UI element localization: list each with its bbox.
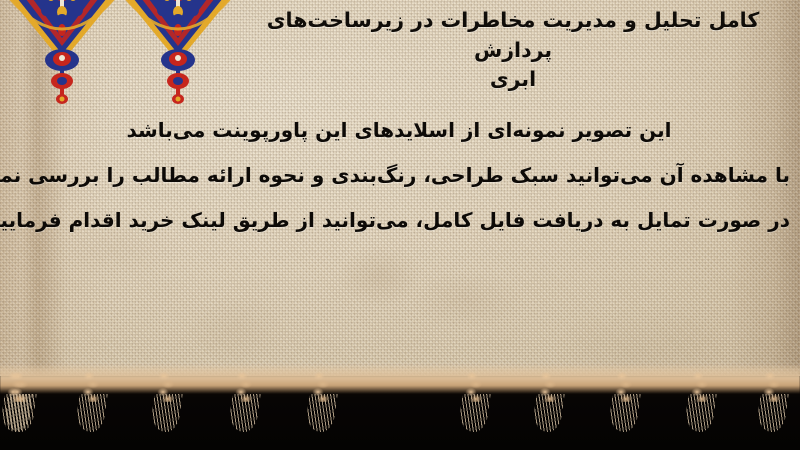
slide-body-line-3: در صورت تمایل به دریافت فایل کامل، می‌تو…	[8, 198, 790, 243]
slide-title-line-2: ابری	[248, 65, 778, 95]
fringe-tassel	[684, 372, 718, 432]
tassel-strands-icon	[74, 394, 107, 432]
tassel-strands-icon	[531, 394, 564, 432]
slide-title-line-1: کامل تحلیل و مدیریت مخاطرات در زیرساخت‌ه…	[248, 6, 778, 65]
fringe-tassel	[150, 372, 184, 432]
fringe-tassel	[756, 372, 790, 432]
slide-body-line-1: این تصویر نمونه‌ای از اسلایدهای این پاور…	[8, 108, 790, 153]
fringe-tassel	[458, 372, 492, 432]
fringe-tassel	[0, 372, 34, 432]
tassel-strands-icon	[607, 394, 640, 432]
carpet-medallion-ornament-left	[6, 0, 118, 116]
tassel-strands-icon	[755, 394, 788, 432]
tassel-strands-icon	[0, 394, 33, 432]
powerpoint-slide-preview: کامل تحلیل و مدیریت مخاطرات در زیرساخت‌ه…	[0, 0, 800, 450]
tassel-strands-icon	[683, 394, 716, 432]
tassel-strands-icon	[149, 394, 182, 432]
fringe-tassel	[75, 372, 109, 432]
tassel-strands-icon	[457, 394, 490, 432]
slide-body-line-2: با مشاهده آن می‌توانید سبک طراحی، رنگ‌بن…	[8, 153, 790, 198]
carpet-medallion-ornament-right	[122, 0, 234, 116]
fringe-tassel	[228, 372, 262, 432]
slide-body: این تصویر نمونه‌ای از اسلایدهای این پاور…	[8, 108, 790, 243]
slide-title: کامل تحلیل و مدیریت مخاطرات در زیرساخت‌ه…	[248, 6, 778, 95]
fringe-tassel	[305, 372, 339, 432]
fringe-tassel	[608, 372, 642, 432]
medallion-pendant-icon-left	[40, 48, 84, 110]
tassel-strands-icon	[227, 394, 260, 432]
carpet-fringe-edge	[0, 364, 800, 394]
tassel-strands-icon	[304, 394, 337, 432]
fringe-tassel	[532, 372, 566, 432]
medallion-pendant-icon-right	[156, 48, 200, 110]
